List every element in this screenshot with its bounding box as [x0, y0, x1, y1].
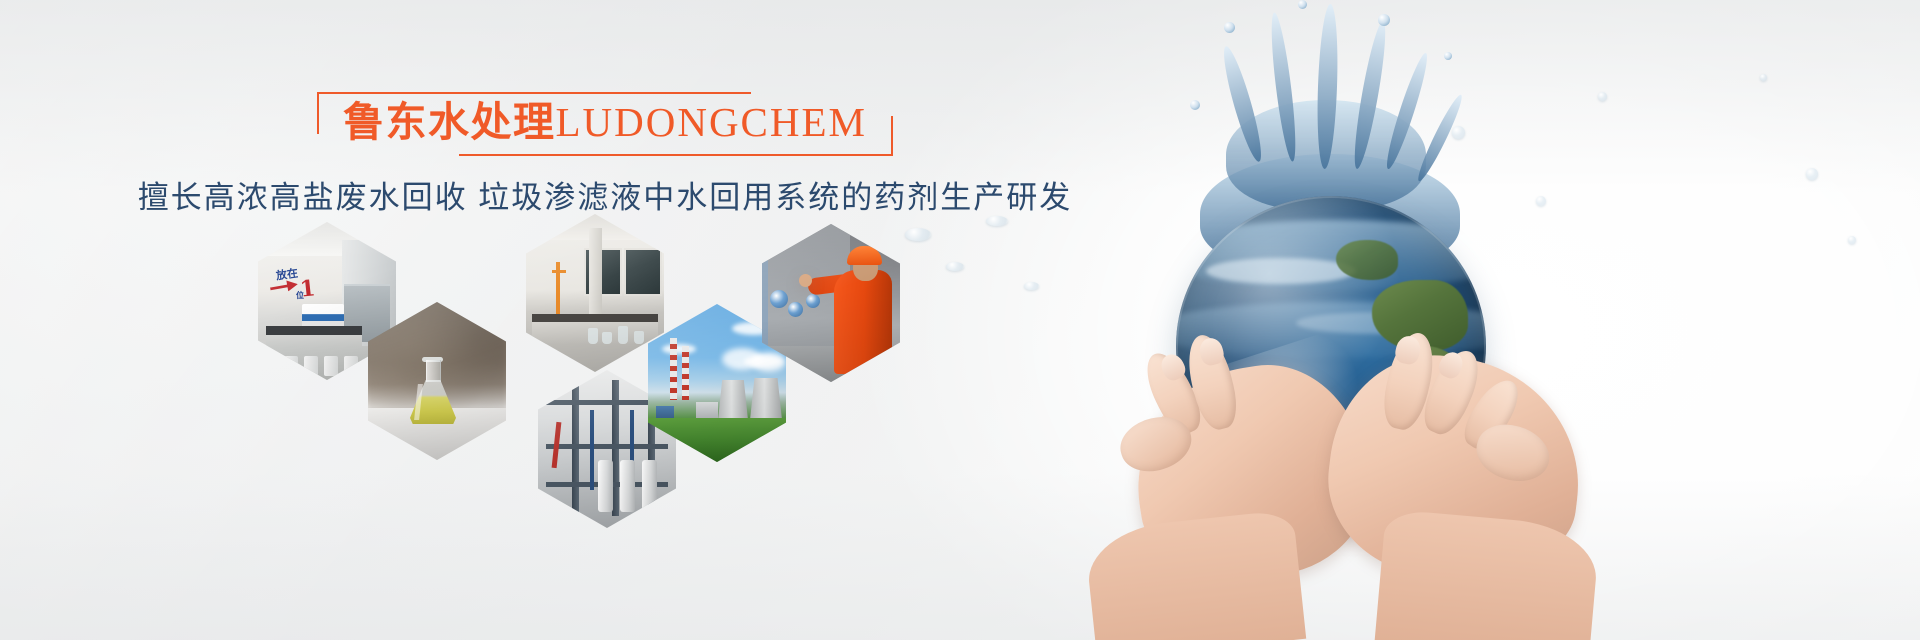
water-droplet	[986, 216, 1008, 226]
headline-block: 鲁东水处理LUDONGCHEM 擅长高浓高盐废水回收 垃圾渗滤液中水回用系统的药…	[0, 92, 1210, 217]
title-chinese: 鲁东水处理	[343, 99, 556, 145]
page-subtitle: 擅长高浓高盐废水回收 垃圾渗滤液中水回用系统的药剂生产研发	[0, 172, 1210, 217]
water-droplet	[905, 228, 931, 241]
hexagon-photo-cluster: 放在 1 位	[236, 218, 956, 518]
water-droplet	[946, 262, 964, 271]
hex-lab-glassware[interactable]	[526, 214, 664, 372]
water-globe-in-hands	[1080, 0, 1920, 640]
hero-banner: 鲁东水处理LUDONGCHEM 擅长高浓高盐废水回收 垃圾渗滤液中水回用系统的药…	[0, 0, 1920, 640]
page-title: 鲁东水处理LUDONGCHEM	[343, 98, 867, 146]
title-english: LUDONGCHEM	[555, 99, 867, 145]
water-droplet	[1024, 282, 1039, 290]
cupped-hands	[1080, 330, 1600, 640]
title-bracket-frame: 鲁东水处理LUDONGCHEM	[317, 92, 893, 156]
